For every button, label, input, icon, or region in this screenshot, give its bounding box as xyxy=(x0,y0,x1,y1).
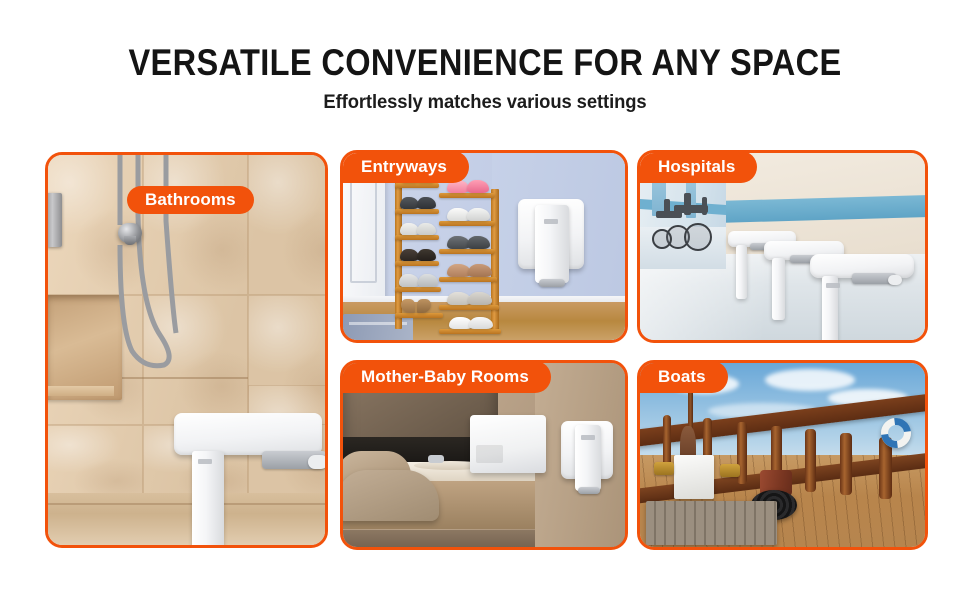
badge-bathrooms: Bathrooms xyxy=(127,186,254,214)
card-bathrooms[interactable]: Bathrooms xyxy=(45,152,328,548)
badge-boats: Boats xyxy=(638,361,728,393)
page-title: VERSATILE CONVENIENCE FOR ANY SPACE xyxy=(58,44,912,81)
life-ring-icon xyxy=(881,418,911,448)
page-subtitle: Effortlessly matches various settings xyxy=(15,92,956,114)
card-entryways[interactable]: Entryways xyxy=(340,150,628,343)
badge-mother-baby: Mother-Baby Rooms xyxy=(341,361,551,393)
card-mother-baby[interactable]: Mother-Baby Rooms xyxy=(340,360,628,550)
card-boats[interactable]: Boats xyxy=(637,360,928,550)
badge-hospitals: Hospitals xyxy=(638,151,757,183)
page-header: VERSATILE CONVENIENCE FOR ANY SPACE Effo… xyxy=(0,0,970,114)
changing-station xyxy=(470,415,546,474)
badge-entryways: Entryways xyxy=(341,151,469,183)
card-hospitals[interactable]: Hospitals xyxy=(637,150,928,343)
shower-head-icon xyxy=(118,223,142,243)
